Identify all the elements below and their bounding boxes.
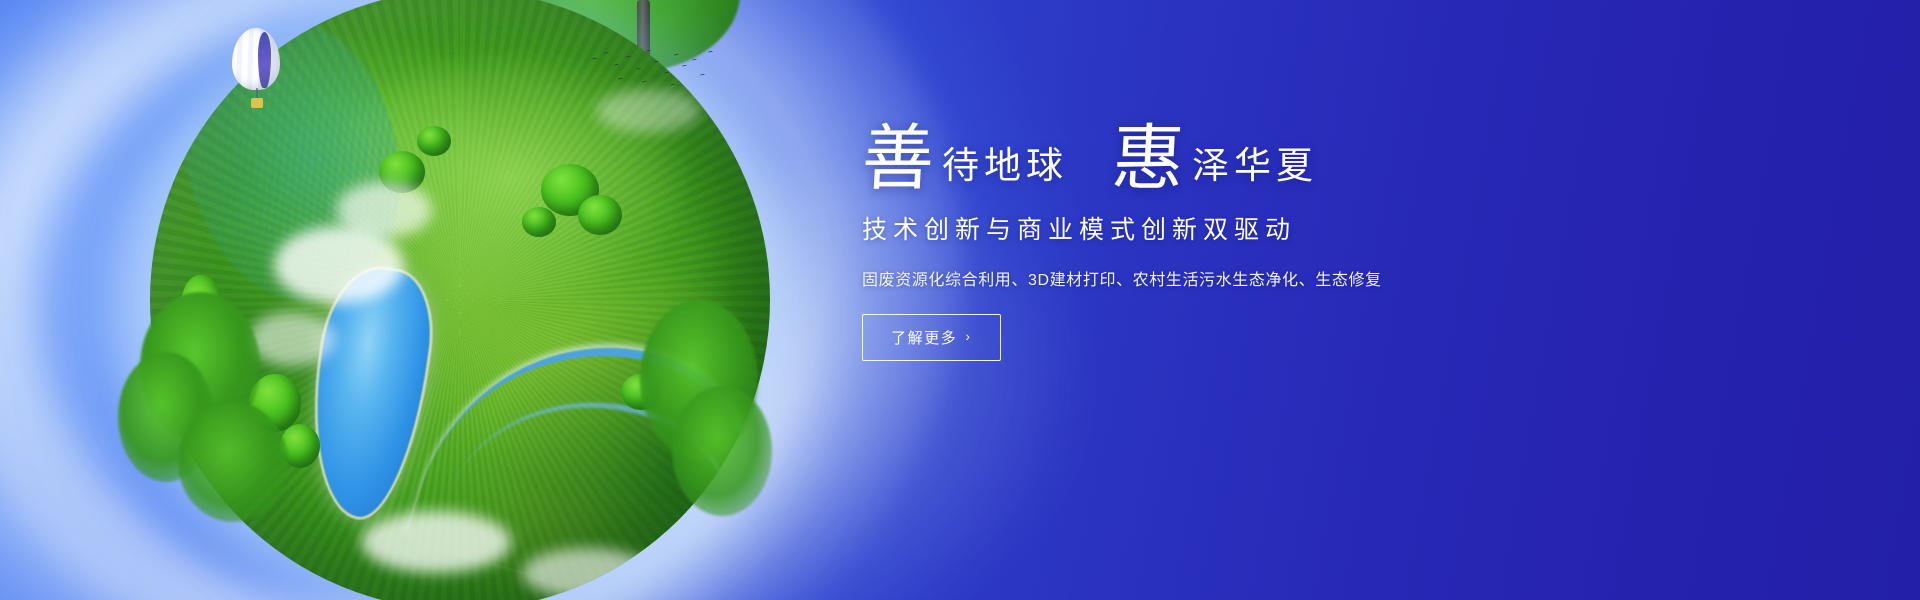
headline-phrase-2: 惠 泽华夏 [1112,126,1318,194]
balloon-envelope [232,28,280,90]
learn-more-label: 了解更多 [891,327,957,348]
foreground-tree-icon [178,402,288,522]
learn-more-button[interactable]: 了解更多 › [862,314,1001,361]
page-description: 固废资源化综合利用、3D建材打印、农村生活污水生态净化、生态修复 [862,266,1562,290]
page-title: 善 待地球 惠 泽华夏 [862,126,1562,194]
bird-flock-icon [588,48,718,92]
balloon-basket [251,98,263,108]
cloud-icon [336,182,432,238]
bush-icon [522,207,556,237]
hero-content: 善 待地球 惠 泽华夏 技术创新与商业模式创新双驱动 固废资源化综合利用、3D建… [862,126,1562,361]
foreground-tree-icon [672,386,772,516]
headline-rest-2: 泽华夏 [1192,148,1318,194]
balloon-stripe [258,32,271,88]
headline-phrase-1: 善 待地球 [862,126,1068,194]
page-subtitle: 技术创新与商业模式创新双驱动 [862,210,1562,246]
hot-air-balloon-icon [232,28,280,114]
hero-banner: 善 待地球 惠 泽华夏 技术创新与商业模式创新双驱动 固废资源化综合利用、3D建… [0,0,1920,600]
chevron-right-icon: › [965,329,971,343]
headline-lead-char-1: 善 [860,126,936,194]
cloud-icon [522,548,652,598]
cloud-icon [361,511,511,573]
headline-lead-char-2: 惠 [1110,126,1186,194]
bush-icon [417,126,451,156]
bush-icon [578,195,622,235]
headline-rest-1: 待地球 [942,148,1068,194]
